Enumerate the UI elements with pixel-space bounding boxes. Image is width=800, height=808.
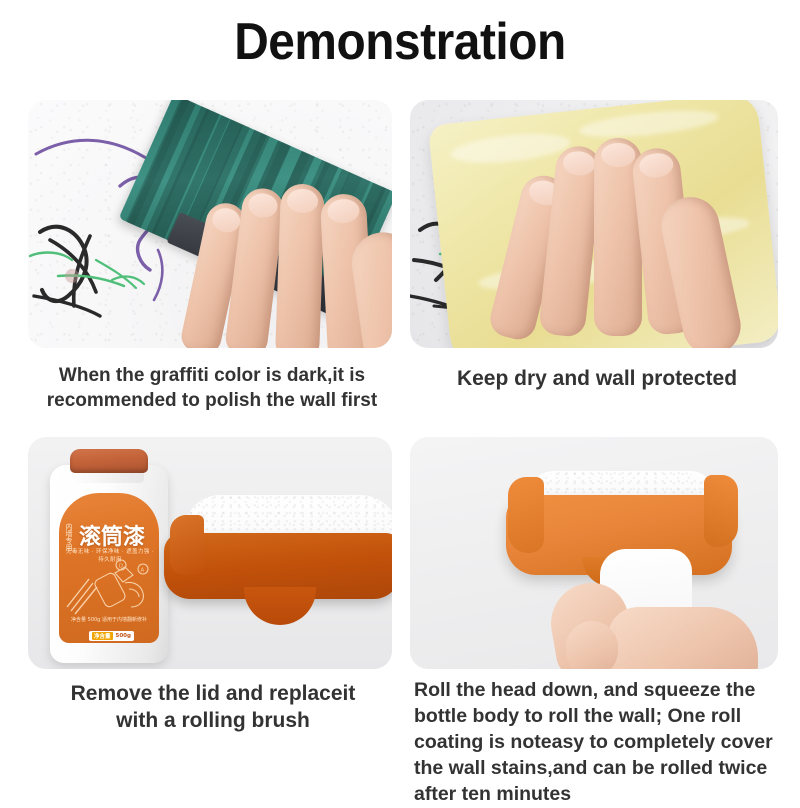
panel-3-photo: 内墙专用 滚筒漆 无毒无味 · 环保净味 · 遮盖力强 · 持久耐用 D <box>28 437 392 669</box>
roller-side-arm <box>170 515 204 575</box>
roller-right-arm <box>704 475 738 547</box>
caption-line: When the graffiti color is dark,it is <box>22 364 402 389</box>
page-title: Demonstration <box>32 12 768 72</box>
panel-3-caption: Remove the lid and replaceit with a roll… <box>22 680 404 735</box>
bottle-label: 内墙专用 滚筒漆 无毒无味 · 环保净味 · 遮盖力强 · 持久耐用 D <box>59 493 159 643</box>
panel-1-photo <box>28 100 392 348</box>
caption-line: coating is noteasy to completely cover <box>414 730 786 756</box>
fingernail <box>210 206 242 235</box>
paint-bottle: 内墙专用 滚筒漆 无毒无味 · 环保净味 · 遮盖力强 · 持久耐用 D <box>50 449 170 663</box>
panel-2-image <box>410 100 778 348</box>
fingernail <box>327 198 360 224</box>
badge-net-label: 净含量 <box>92 632 113 640</box>
label-illustration-icon: D A <box>63 555 155 617</box>
label-weight-badge: 净含量 500g <box>89 631 134 641</box>
hand-pressing-block <box>190 158 392 348</box>
caption-line: Roll the head down, and squeeze the <box>414 678 786 704</box>
fingernail <box>247 192 279 219</box>
bottle-cap <box>70 449 148 473</box>
caption-line: recommended to polish the wall first <box>22 389 402 414</box>
fingernail <box>287 189 319 214</box>
caption-line: with a rolling brush <box>22 707 404 734</box>
roller-left-arm <box>508 477 544 553</box>
panel-4-image <box>410 437 778 669</box>
svg-text:D: D <box>119 564 123 570</box>
caption-line: Remove the lid and replaceit <box>22 680 404 707</box>
demonstration-infographic: Demonstration <box>0 0 800 800</box>
svg-text:A: A <box>141 567 145 573</box>
hand-holding-roller <box>552 565 758 669</box>
panel-1-caption: When the graffiti color is dark,it is re… <box>22 364 402 413</box>
fingernail <box>601 143 635 167</box>
fingernail <box>562 150 597 177</box>
roller-connector-stem <box>244 587 316 625</box>
panel-1-image <box>28 100 392 348</box>
fingernail <box>638 152 674 179</box>
badge-weight-value: 500g <box>116 633 131 639</box>
label-footer-text: 净含量 500g 适用于内墙翻新修补 <box>66 617 152 625</box>
panel-4-photo <box>410 437 778 669</box>
roller-brush-head <box>164 495 392 647</box>
caption-line: the wall stains,and can be rolled twice <box>414 756 786 782</box>
panel-2-caption: Keep dry and wall protected <box>412 365 782 392</box>
panel-2-photo <box>410 100 778 348</box>
caption-line: after ten minutes <box>414 782 786 808</box>
caption-line: bottle body to roll the wall; One roll <box>414 704 786 730</box>
caption-line: Keep dry and wall protected <box>412 365 782 392</box>
panel-3-image: 内墙专用 滚筒漆 无毒无味 · 环保净味 · 遮盖力强 · 持久耐用 D <box>28 437 392 669</box>
panel-4-caption: Roll the head down, and squeeze the bott… <box>414 678 786 808</box>
hand-wiping-wall <box>506 122 720 348</box>
